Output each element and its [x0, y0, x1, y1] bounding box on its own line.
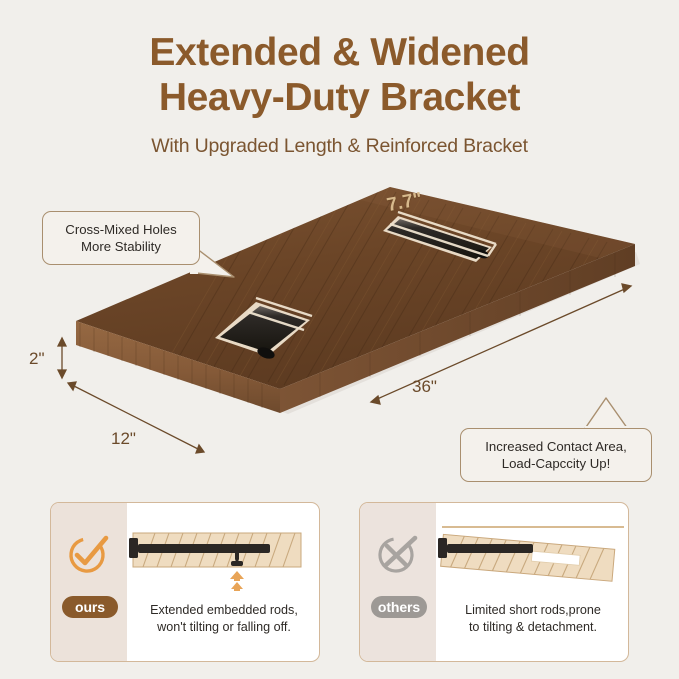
diagram-extended-rod: [127, 511, 320, 599]
product-marketing-image: Extended & Widened Heavy-Duty Bracket Wi…: [0, 0, 679, 679]
diagram-short-rod: [436, 511, 629, 599]
comparison-panel-others: others: [359, 502, 629, 662]
badge-ours: ours: [62, 596, 118, 618]
dimension-label-length: 36": [412, 377, 437, 397]
comparison-panel-ours: ours: [50, 502, 320, 662]
panel-tint-others: [360, 503, 436, 661]
callout-cross-mixed-holes: Cross-Mixed Holes More Stability: [42, 211, 200, 265]
caption-others: Limited short rods,prone to tilting & de…: [440, 602, 626, 636]
badge-others: others: [371, 596, 427, 618]
check-circle-icon: [64, 529, 114, 579]
comparison-section: ours: [0, 502, 679, 662]
x-circle-icon: [373, 529, 423, 579]
header-block: Extended & Widened Heavy-Duty Bracket Wi…: [0, 30, 679, 158]
headline-line-2: Heavy-Duty Bracket: [0, 75, 679, 120]
dimension-label-depth: 12": [111, 429, 136, 449]
caption-ours: Extended embedded rods, won't tilting or…: [131, 602, 317, 636]
dimension-label-thickness: 2": [29, 349, 45, 369]
panel-tint-ours: [51, 503, 127, 661]
headline-line-1: Extended & Widened: [0, 30, 679, 75]
subheadline: With Upgraded Length & Reinforced Bracke…: [0, 134, 679, 158]
callout-increased-contact-area: Increased Contact Area, Load-Capccity Up…: [460, 428, 652, 482]
